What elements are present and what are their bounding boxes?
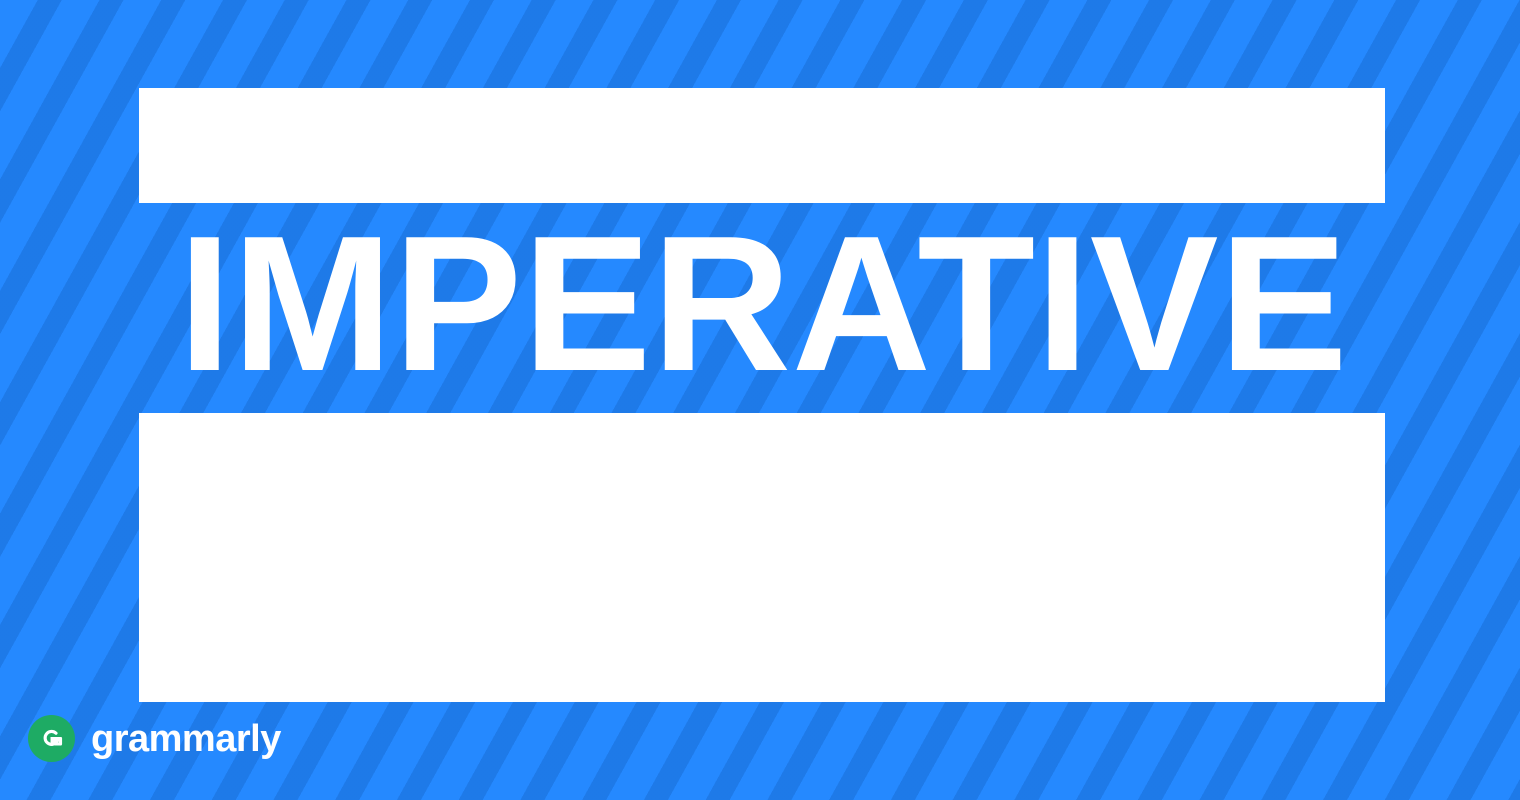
page-title: IMPERATIVE	[178, 203, 1478, 403]
definition-panel: adj. 1. Essential. 2. Expressing a comma…	[139, 413, 1385, 702]
grammarly-wordmark: grammarly	[91, 719, 281, 759]
top-white-bar	[139, 88, 1385, 203]
definition-card: IMPERATIVE adj. 1. Essential. 2. Express…	[0, 0, 1520, 800]
grammarly-g-icon	[28, 715, 75, 762]
grammarly-logo: grammarly	[28, 715, 281, 762]
